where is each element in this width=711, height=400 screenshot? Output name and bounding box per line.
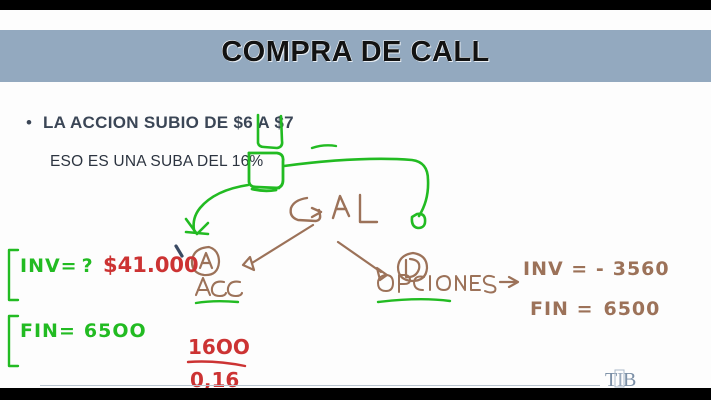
brown-label-opciones [378,275,495,293]
bullet-item-1: • LA ACCION SUBIO DE $6 A $7 [26,113,294,133]
brown-label-acc [196,278,242,296]
svg-text:B: B [623,369,636,388]
slide-title: COMPRA DE CALL [0,36,711,69]
green-bracket-inv [9,250,18,300]
letterbox-top [0,0,711,10]
brown-arrow-to-opciones [338,242,387,280]
red-fraction-numerator: 16OO [188,335,250,359]
green-curve-right [284,159,428,228]
tib-logo: T I B [604,365,644,388]
green-fin-line: FIN=65OO [20,320,147,342]
brown-fin-line: FIN =6500 [530,298,660,320]
green-curve-left [186,185,248,234]
bullet-marker: • [26,114,32,131]
brown-fin-label: FIN = [530,298,593,320]
brown-arrow-right [500,277,518,287]
brown-gal-heading [291,195,377,222]
inv-value-text: ? [82,255,94,277]
inv-label-text: INV= [20,255,78,277]
fin-label-text: FIN= [20,320,76,342]
brown-fin-value: 6500 [603,298,660,320]
bullet-text-2: ESO ES UNA SUBA DEL 16% [50,153,263,171]
bullet-text-1: LA ACCION SUBIO DE $6 A $7 [43,113,294,133]
green-underline-price-7 [312,145,336,148]
brown-inv-value: 3560 [613,258,670,280]
brown-circle-node-d [398,253,427,281]
brown-inv-label: INV = - [523,258,605,280]
video-frame: COMPRA DE CALL • LA ACCION SUBIO DE $6 A… [0,0,711,400]
letterbox-bottom [0,388,711,400]
slide-canvas: COMPRA DE CALL • LA ACCION SUBIO DE $6 A… [0,10,711,388]
brown-inv-line: INV = -3560 [523,258,670,280]
fin-value-text: 65OO [84,320,147,342]
green-bracket-fin [9,316,18,366]
green-inv-label: INV=? [20,255,94,277]
brown-arrow-to-acc [243,225,313,270]
footer-divider [40,385,600,386]
red-amount-41000: $41.000 [103,253,199,277]
green-underline-acc [196,301,238,303]
red-fraction-bar [188,362,245,367]
green-underline-opciones [378,299,450,302]
